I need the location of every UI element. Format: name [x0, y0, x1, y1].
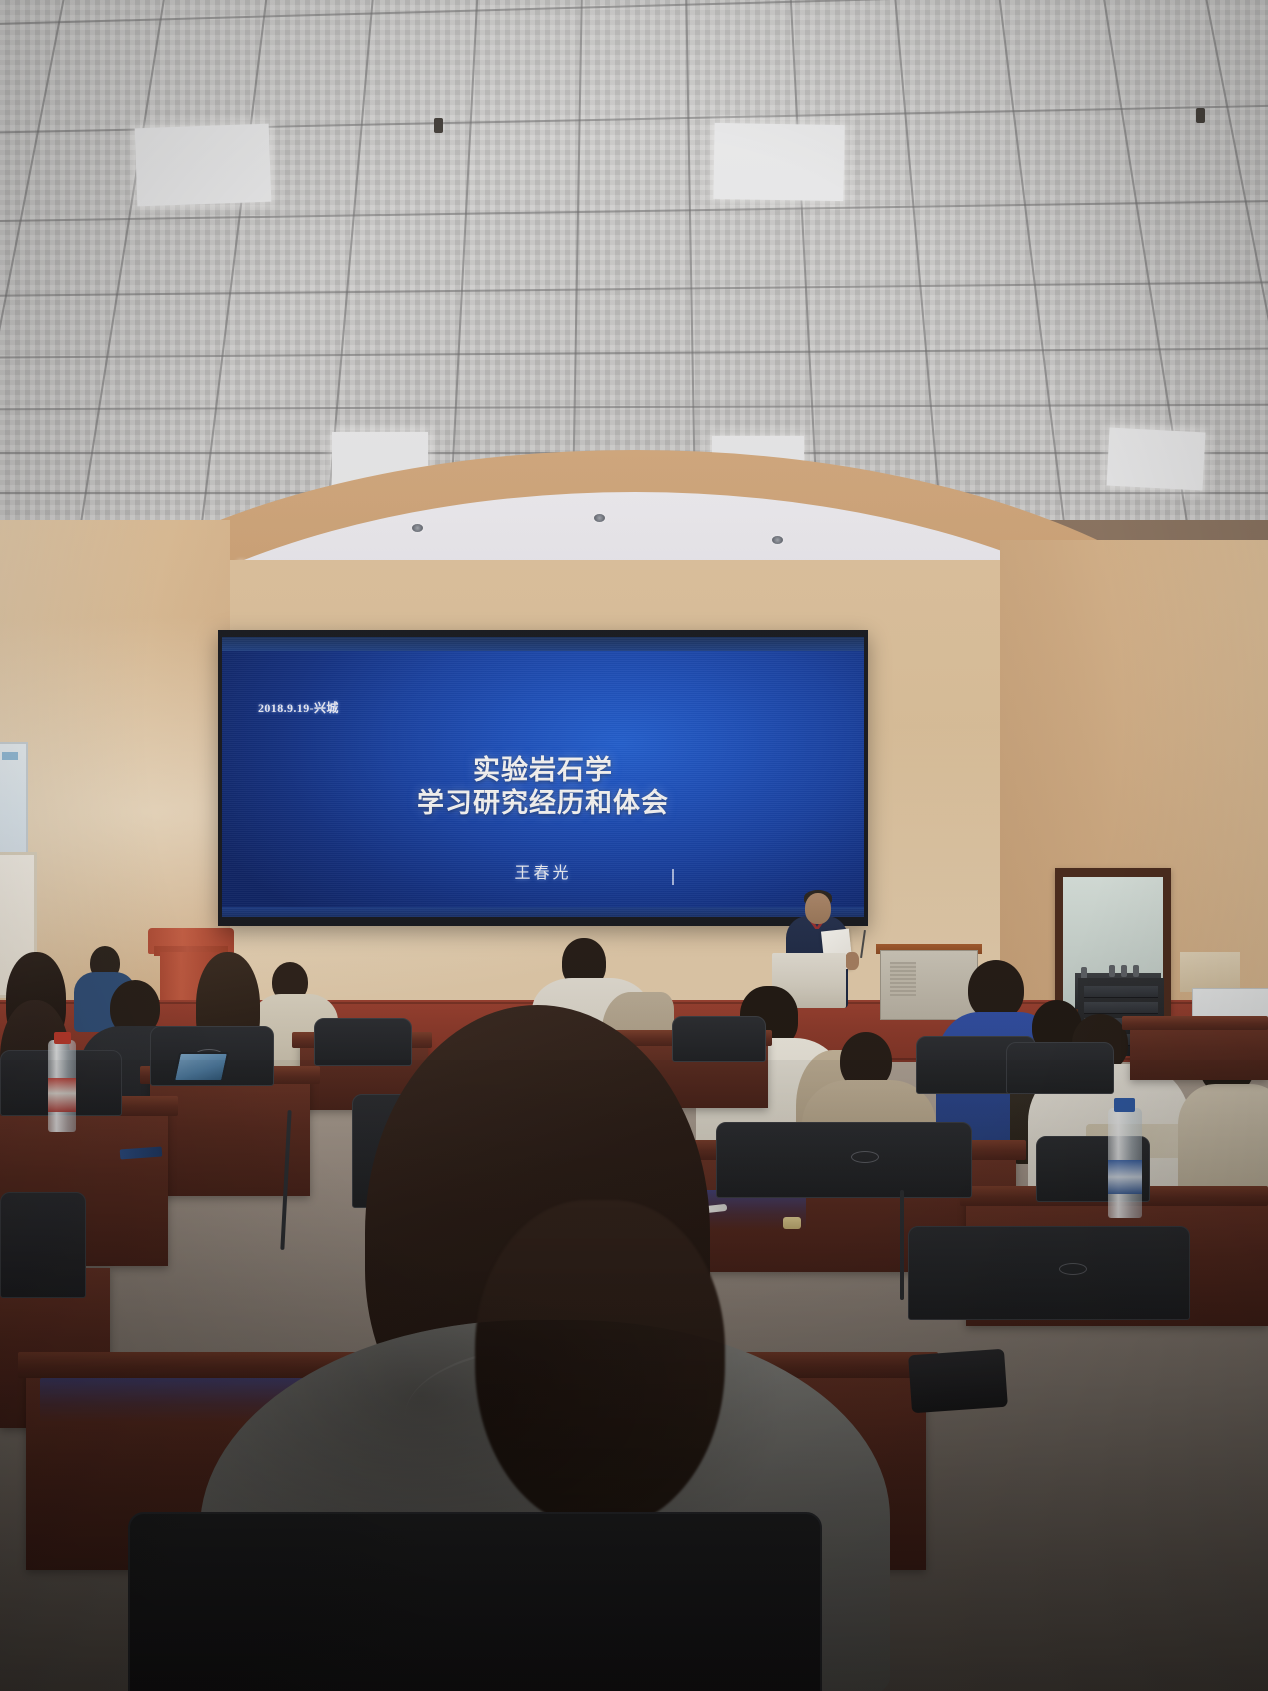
- screen-bottom-band: [222, 907, 864, 917]
- seat-back: [908, 1226, 1190, 1320]
- left-wall-window: [0, 742, 28, 866]
- slide-title-line2: 学习研究经历和体会: [222, 788, 864, 821]
- seat-logo-icon: [1059, 1263, 1087, 1275]
- projection-screen[interactable]: 2018.9.19-兴城 实验岩石学 学习研究经历和体会 王春光: [222, 637, 864, 917]
- ceiling-sensor-icon: [1196, 108, 1205, 123]
- bottle-cap: [54, 1032, 71, 1044]
- slide-title-line1: 实验岩石学: [222, 755, 864, 788]
- presenter-hand: [845, 952, 859, 970]
- desk: [1130, 1022, 1268, 1080]
- foreground-chair-back: [128, 1512, 822, 1691]
- slide-title: 实验岩石学 学习研究经历和体会: [222, 755, 864, 821]
- bottle-label: [48, 1078, 76, 1112]
- av-cabinet-vent: [890, 962, 916, 996]
- slide-text-cursor: [672, 869, 674, 885]
- bottle-cap: [1114, 1098, 1135, 1112]
- lecture-hall-photo: 2018.9.19-兴城 实验岩石学 学习研究经历和体会 王春光: [0, 0, 1268, 1691]
- ceiling-light-panel: [135, 124, 272, 207]
- ceiling-sensor-icon: [434, 118, 443, 133]
- presenter-head: [805, 893, 831, 924]
- downlight-icon: [594, 514, 605, 522]
- desk-surface: [1122, 1016, 1268, 1030]
- slide-header-date: 2018.9.19-兴城: [258, 699, 339, 716]
- downlight-icon: [772, 536, 783, 544]
- projection-screen-frame: 2018.9.19-兴城 实验岩石学 学习研究经历和体会 王春光: [218, 630, 868, 926]
- screen-top-band: [222, 637, 864, 651]
- foreground-student-hair-strands: [475, 1200, 725, 1530]
- slide-author: 王春光: [222, 859, 864, 883]
- wall-sign: [2, 752, 18, 760]
- side-cabinet: [1180, 952, 1240, 992]
- seat-back: [1006, 1042, 1114, 1094]
- bottle-label: [1108, 1160, 1142, 1194]
- seat-back: [0, 1192, 86, 1298]
- dark-device-on-desk[interactable]: [908, 1349, 1008, 1414]
- ceiling-light-panel: [713, 123, 844, 201]
- downlight-icon: [412, 524, 423, 532]
